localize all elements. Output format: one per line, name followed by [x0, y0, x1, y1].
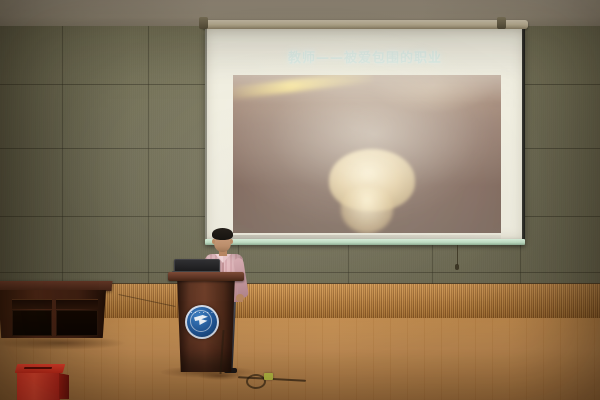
wooden-desk	[0, 281, 112, 343]
desk-drawer-left	[12, 299, 52, 309]
projection-screen: 教师——被爱包围的职业	[205, 20, 525, 250]
roller-bracket-right	[497, 17, 506, 29]
slide-title: 教师——被爱包围的职业	[205, 47, 525, 66]
lecture-hall-scene: 教师——被爱包围的职业	[0, 0, 600, 400]
lectern-top-surface	[168, 272, 244, 281]
roller-bracket-left	[199, 17, 208, 29]
photo-bouquet-lower	[341, 187, 393, 233]
slide-photograph	[233, 75, 501, 233]
emblem-rim-text: • • • • • •	[187, 308, 217, 318]
cable-coil	[246, 374, 266, 389]
ballot-box-slot	[24, 367, 53, 369]
presenter-ear-right	[230, 239, 233, 244]
screen-edge-left	[205, 29, 207, 241]
lectern: • • • • • •	[171, 272, 241, 372]
cable-connector	[264, 373, 273, 380]
presenter-hair	[212, 228, 233, 240]
wall-cable	[118, 300, 178, 324]
red-ballot-box	[16, 364, 70, 400]
screen-surface: 教师——被爱包围的职业	[205, 29, 525, 241]
presenter-ear-left	[212, 239, 215, 244]
desk-panel-right	[56, 310, 98, 336]
ballot-box-side	[59, 373, 69, 399]
ballot-box-front	[17, 372, 60, 400]
desk-panel-left	[12, 310, 52, 336]
screen-roller-housing	[202, 20, 528, 29]
desk-drawer-right	[56, 299, 98, 309]
screen-pull-cord-knob[interactable]	[455, 264, 459, 270]
floor-cable	[238, 372, 308, 388]
screen-edge-right	[522, 29, 525, 241]
laptop[interactable]	[174, 259, 218, 273]
desk-top	[0, 281, 113, 291]
screen-pull-cord[interactable]	[457, 245, 458, 265]
school-emblem: • • • • • •	[185, 305, 219, 339]
